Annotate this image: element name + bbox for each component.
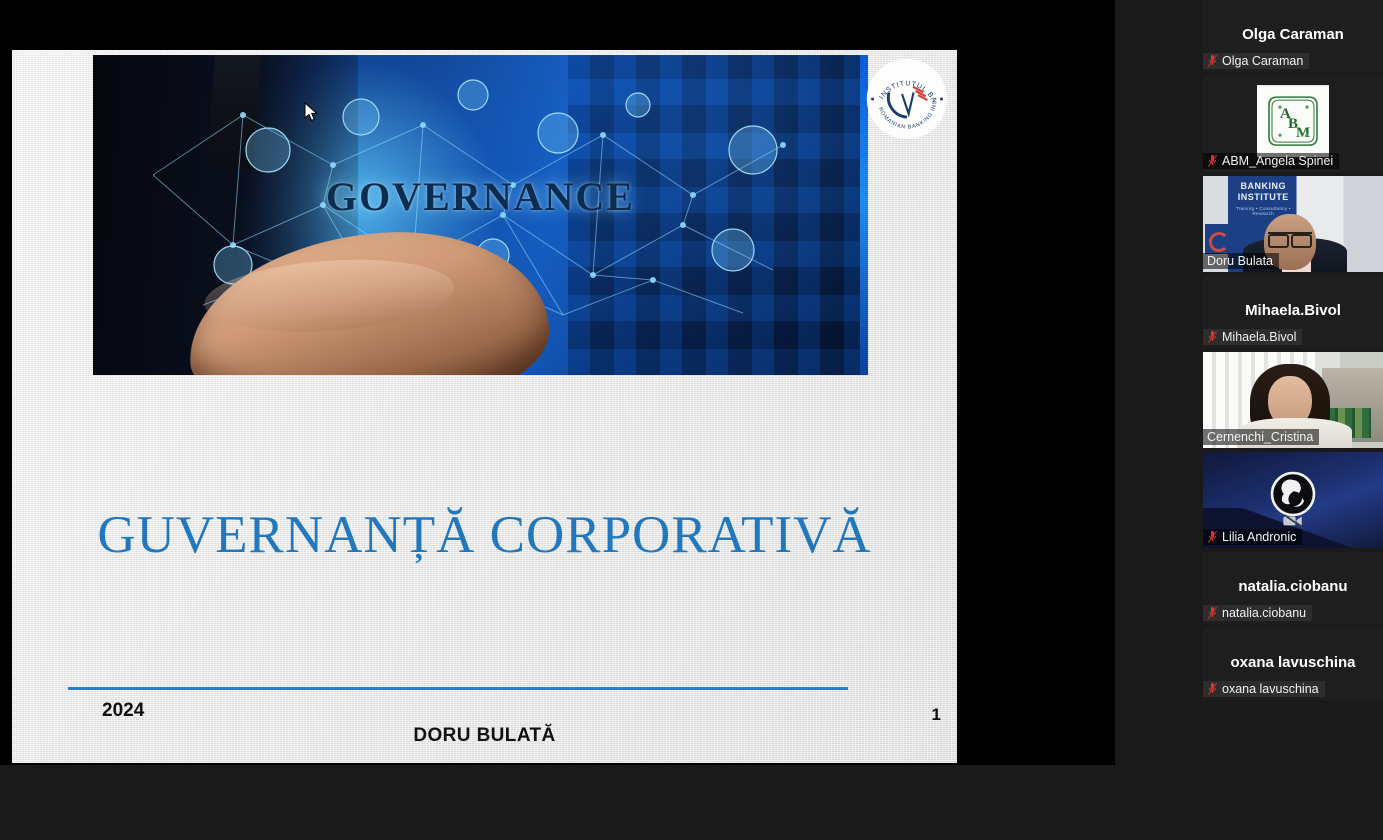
microphone-muted-icon [1207,530,1218,544]
participant-name-label: Lilia Andronic [1222,530,1296,544]
microphone-muted-icon [1207,330,1218,344]
flag-stand [1205,224,1231,254]
participant-display-name: oxana lavuschina [1203,654,1383,671]
microphone-muted-icon [1207,606,1218,620]
camera-off-icon [1282,514,1304,528]
participant-name-badge: Lilia Andronic [1203,529,1302,545]
participant-display-name: Olga Caraman [1203,26,1383,43]
institute-logo-icon: INSTITUTUL BANCAR ROMÂN ROMANIAN BANKING… [866,58,948,140]
participant-name-label: Olga Caraman [1222,54,1303,68]
slide-year: 2024 [102,700,144,722]
participant-name-badge: ABM_Angela Spinei [1203,153,1339,169]
obs-studio-icon [1269,470,1317,518]
participant-name-badge: natalia.ciobanu [1203,605,1312,621]
participant-tile[interactable]: ABMABM_Angela Spinei [1203,76,1383,172]
title-divider [68,687,848,690]
participant-tile[interactable]: Olga CaramanOlga Caraman [1203,0,1383,72]
participant-name-badge: Olga Caraman [1203,53,1309,69]
hero-word-label: GOVERNANCE [93,173,868,220]
participant-name-label: natalia.ciobanu [1222,606,1306,620]
microphone-muted-icon [1207,682,1218,696]
participant-tile[interactable]: Lilia Andronic [1203,452,1383,548]
mouse-pointer-icon [304,102,318,122]
participant-display-name: Mihaela.Bivol [1203,302,1383,319]
participant-tile[interactable]: Mihaela.BivolMihaela.Bivol [1203,276,1383,348]
svg-text:M: M [1296,125,1310,141]
abm-monogram-icon: ABM [1263,91,1323,151]
participants-rail[interactable]: Olga CaramanOlga CaramanABMABM_Angela Sp… [1203,0,1383,840]
participant-name-label: oxana lavuschina [1222,682,1319,696]
participant-tile[interactable]: BANKINGINSTITUTETraining • Consultancy •… [1203,176,1383,272]
banner-heading: BANKINGINSTITUTE [1230,181,1297,203]
participant-name-label: Mihaela.Bivol [1222,330,1296,344]
participant-name-badge: Cernenchi_Cristina [1203,429,1319,445]
participant-name-label: Cernenchi_Cristina [1207,430,1313,444]
microphone-muted-icon [1207,154,1218,168]
participant-tile[interactable]: oxana lavuschinaoxana lavuschina [1203,628,1383,700]
participant-tile[interactable]: natalia.ciobanunatalia.ciobanu [1203,552,1383,624]
participant-name-badge: Mihaela.Bivol [1203,329,1302,345]
participant-name-label: ABM_Angela Spinei [1222,154,1333,168]
page-title: GUVERNANȚĂ CORPORATIVĂ [12,505,957,565]
presentation-slide: GOVERNANCE INSTITUTUL BANCAR ROMÂN ROMAN… [12,50,957,763]
participant-name-badge: Doru Bulata [1203,253,1279,269]
microphone-muted-icon [1207,54,1218,68]
slide-page-number: 1 [932,705,941,725]
participant-name-label: Doru Bulata [1207,254,1273,268]
participant-name-badge: oxana lavuschina [1203,681,1325,697]
shared-screen-stage[interactable]: GOVERNANCE INSTITUTUL BANCAR ROMÂN ROMAN… [0,0,1115,765]
institute-logo: INSTITUTUL BANCAR ROMÂN ROMANIAN BANKING… [866,58,948,140]
participant-tile[interactable]: Cernenchi_Cristina [1203,352,1383,448]
participant-display-name: natalia.ciobanu [1203,578,1383,595]
slide-presenter-name: DORU BULATĂ [12,725,957,747]
eyeglasses-shape [1268,232,1312,243]
hero-governance-image: GOVERNANCE [93,55,868,375]
